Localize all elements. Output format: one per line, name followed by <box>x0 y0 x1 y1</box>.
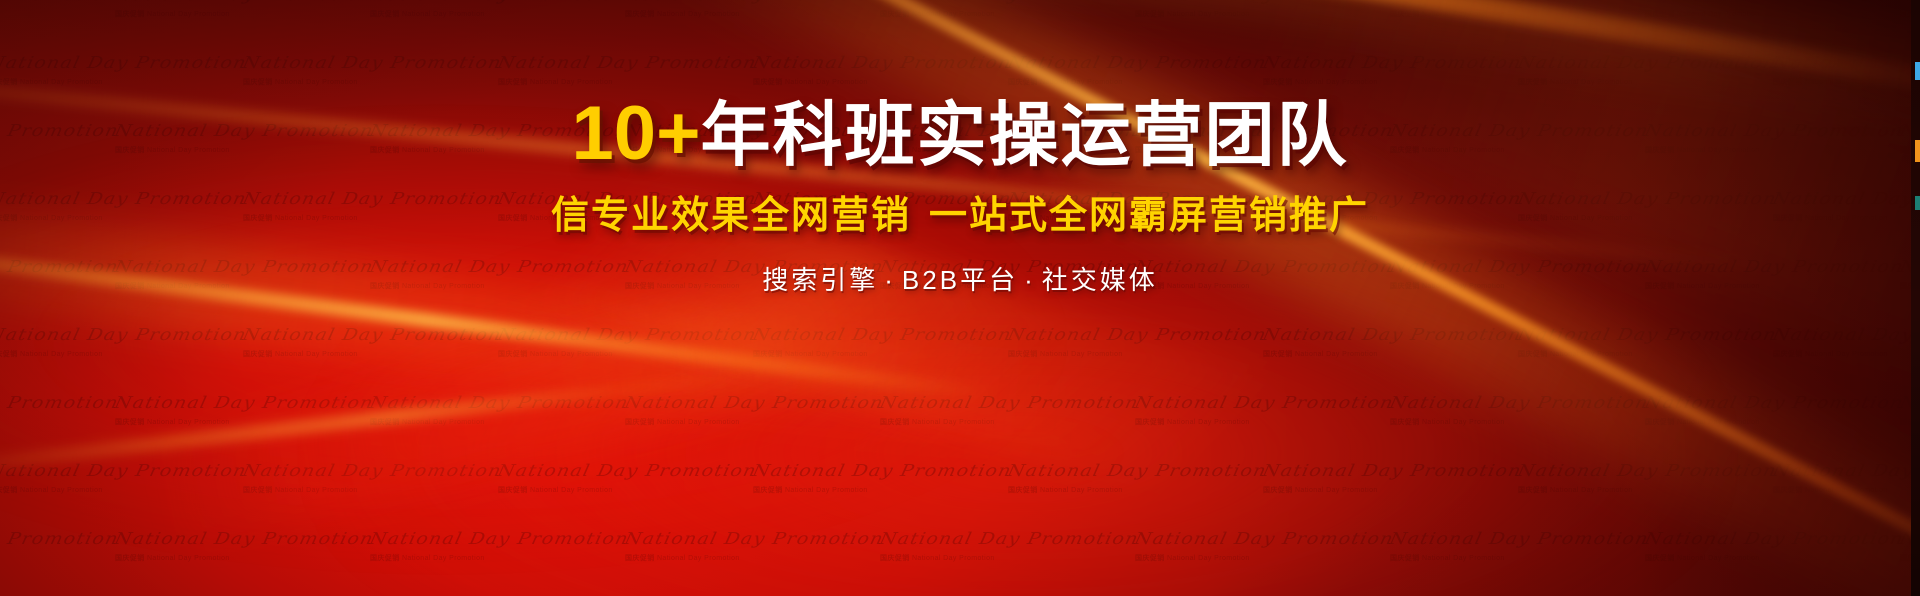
page-edge-strip <box>1911 0 1920 596</box>
tagline-separator-1: · <box>884 265 896 296</box>
tagline-item-search-engine: 搜索引擎 <box>762 265 878 295</box>
subheadline-right: 一站式全网霸屏营销推广 <box>929 195 1369 237</box>
edge-marker-blue <box>1915 62 1920 80</box>
edge-marker-teal <box>1915 196 1920 210</box>
headline-number: 10+ <box>572 91 701 176</box>
banner-headline: 10+年科班实操运营团队 <box>0 96 1920 172</box>
banner-tagline: 搜索引擎·B2B平台·社交媒体 <box>0 260 1920 297</box>
banner-content: 10+年科班实操运营团队 信专业效果全网营销一站式全网霸屏营销推广 搜索引擎·B… <box>0 96 1920 297</box>
subheadline-left: 信专业效果全网营销 <box>551 195 911 237</box>
tagline-item-b2b-platform: B2B平台 <box>902 265 1018 295</box>
tagline-separator-2: · <box>1024 265 1036 296</box>
tagline-item-social-media: 社交媒体 <box>1042 265 1158 295</box>
background-vignette <box>0 0 1920 596</box>
promo-banner: National Day Promotion国庆促销 National Day … <box>0 0 1920 596</box>
edge-marker-orange <box>1915 140 1920 162</box>
headline-text: 年科班实操运营团队 <box>700 96 1348 174</box>
banner-subheadline: 信专业效果全网营销一站式全网霸屏营销推广 <box>0 196 1920 238</box>
